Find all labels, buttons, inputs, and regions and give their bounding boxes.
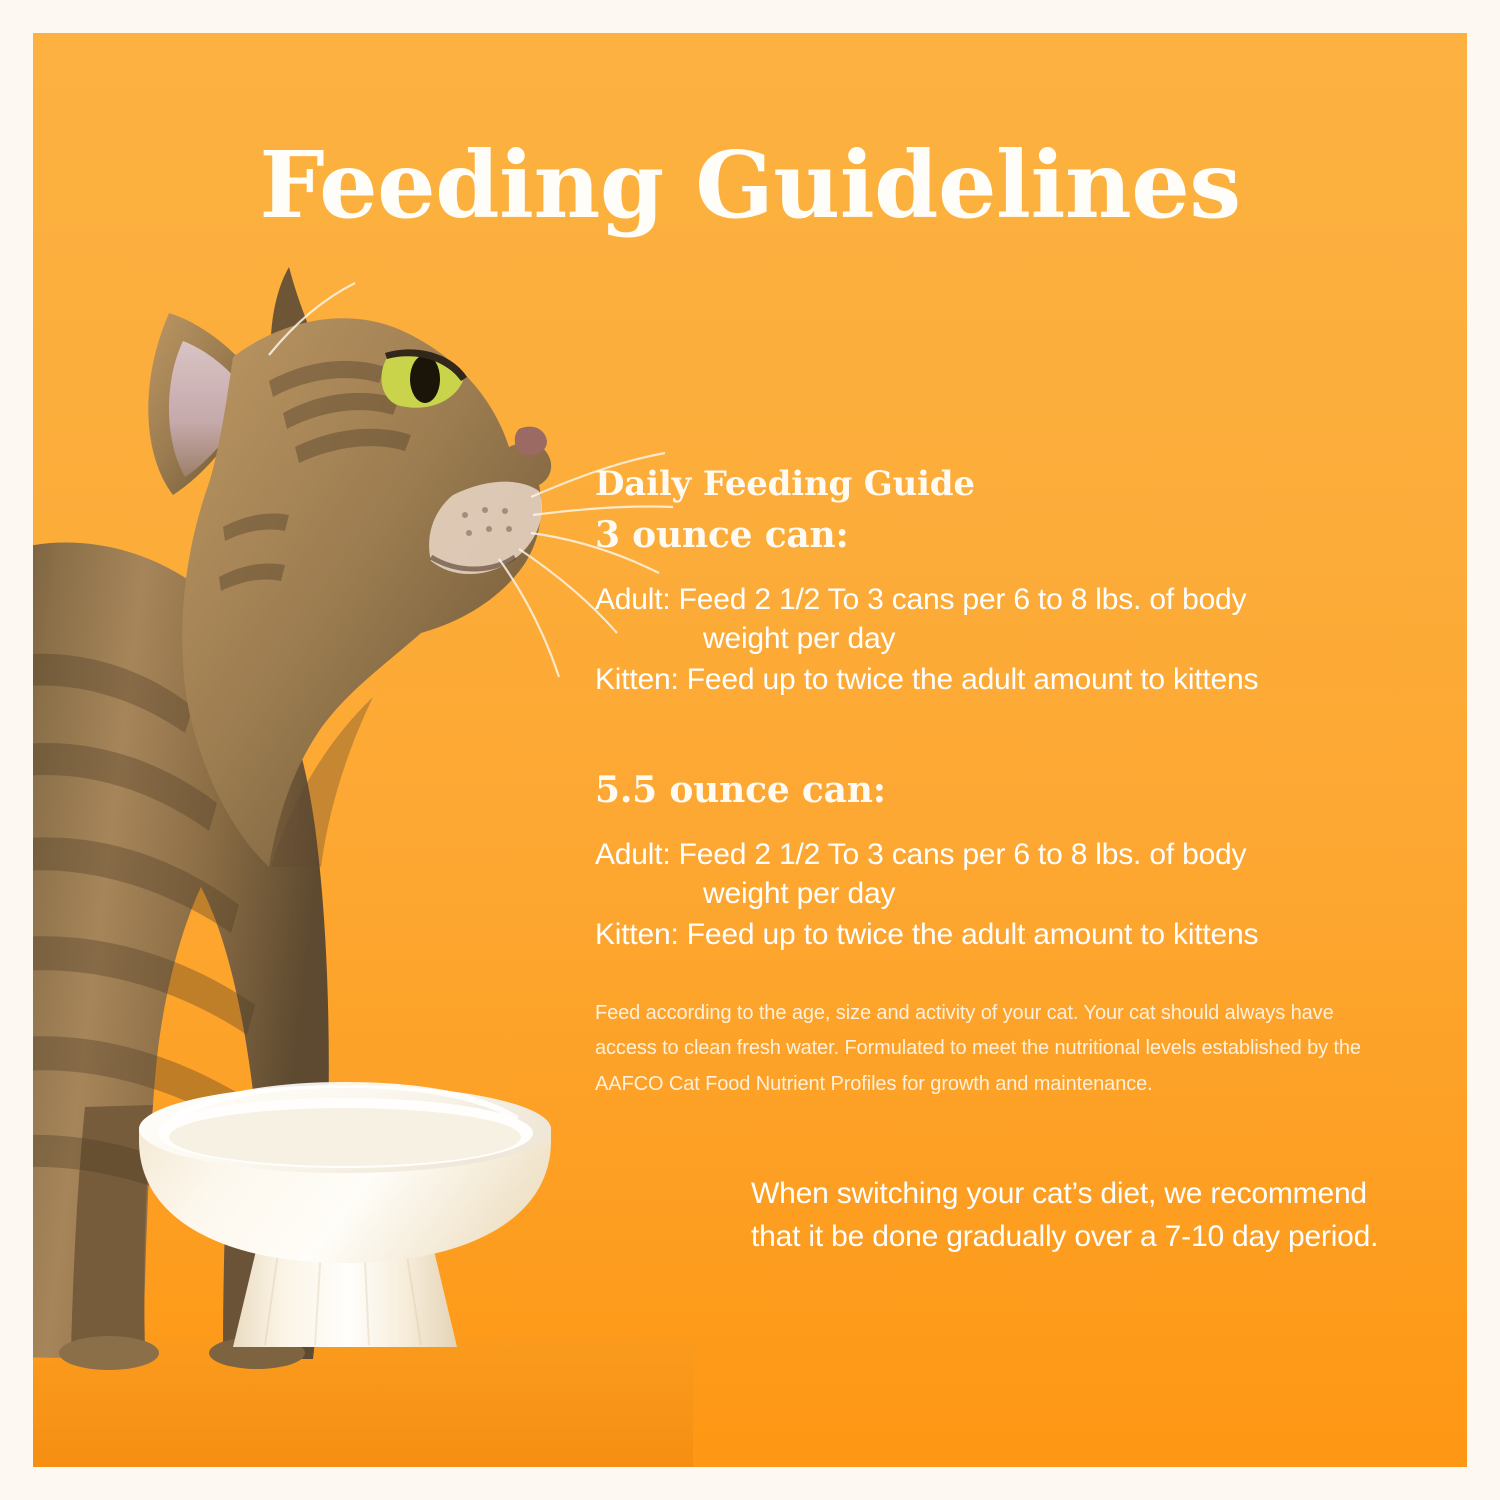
adult-feeding-line-3oz: Adult: Feed 2 1/2 To 3 cans per 6 to 8 l… [595,580,1395,658]
page-title: Feeding Guidelines [33,137,1467,234]
adult-feeding-line-55oz-part1: Adult: Feed 2 1/2 To 3 cans per 6 to 8 l… [595,838,1246,871]
orange-card: Feeding Guidelines [33,33,1467,1467]
can-size-heading-3oz: 3 ounce can: [595,514,1395,558]
cat-body [33,543,329,1359]
diet-switch-note: When switching your cat’s diet, we recom… [751,1173,1411,1258]
feeding-guidelines-graphic: Feeding Guidelines [0,0,1500,1500]
adult-feeding-line-55oz: Adult: Feed 2 1/2 To 3 cans per 6 to 8 l… [595,835,1395,913]
feeding-content: Daily Feeding Guide 3 ounce can: Adult: … [595,463,1395,1102]
kitten-feeding-line-55oz: Kitten: Feed up to twice the adult amoun… [595,915,1395,954]
adult-feeding-line-3oz-part2: weight per day [595,619,1395,658]
cat-and-bowl-illustration [33,227,693,1467]
kitten-feeding-line-3oz: Kitten: Feed up to twice the adult amoun… [595,660,1395,699]
cat-bowl [139,1085,551,1347]
adult-feeding-line-3oz-part1: Adult: Feed 2 1/2 To 3 cans per 6 to 8 l… [595,583,1246,616]
cat-photo [33,227,693,1467]
can-size-heading-55oz: 5.5 ounce can: [595,769,1395,813]
section-spacer [595,699,1395,769]
daily-feeding-guide-heading: Daily Feeding Guide [595,463,1395,506]
aafco-fineprint: Feed according to the age, size and acti… [595,996,1385,1103]
adult-feeding-line-55oz-part2: weight per day [595,874,1395,913]
